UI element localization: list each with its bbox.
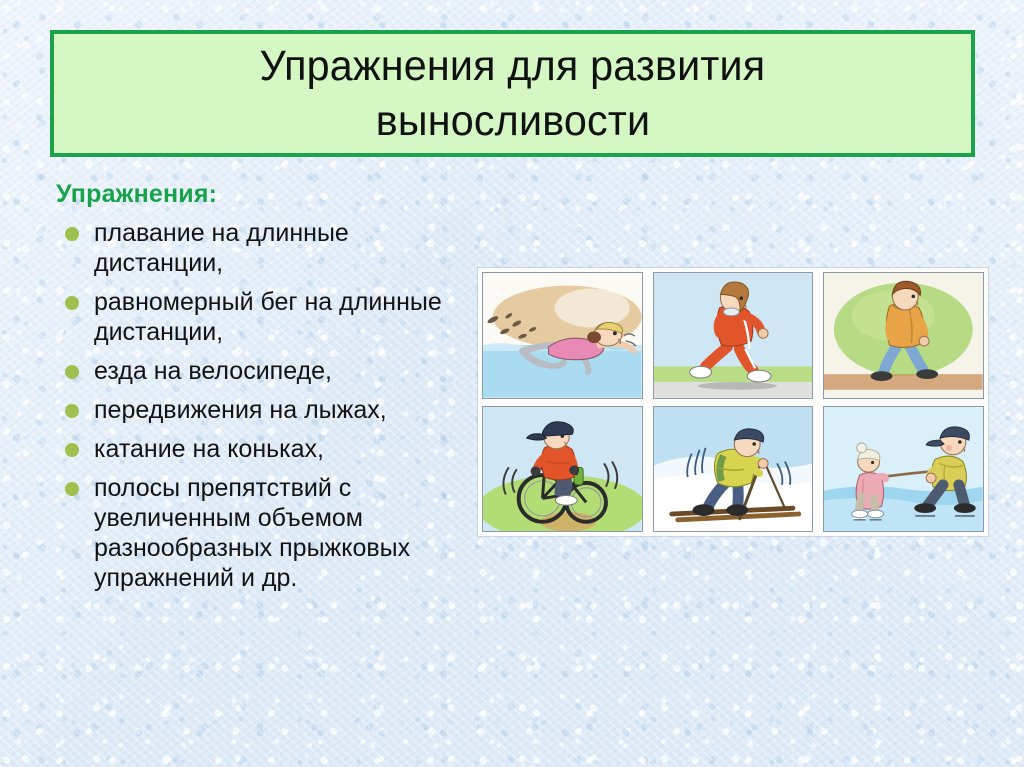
swimming-icon xyxy=(483,273,642,398)
list-item: полосы препятствий с увеличенным объемом… xyxy=(56,473,476,593)
bullet-dot-icon xyxy=(65,227,79,241)
walking-icon xyxy=(824,273,983,398)
slide-title-box: Упражнения для развития выносливости xyxy=(50,30,975,157)
bullet-dot-icon xyxy=(65,365,79,379)
list-item: езда на велосипеде, xyxy=(56,356,476,386)
illustration-running xyxy=(653,272,814,399)
illustration-skating xyxy=(823,406,984,533)
bullet-dot-icon xyxy=(65,482,79,496)
content-heading: Упражнения: xyxy=(56,180,217,209)
skiing-icon xyxy=(654,407,813,532)
cycling-icon xyxy=(483,407,642,532)
list-item: передвижения на лыжах, xyxy=(56,395,476,425)
illustration-cycling xyxy=(482,406,643,533)
list-item-label: равномерный бег на длинные дистанции, xyxy=(94,288,442,346)
bullet-dot-icon xyxy=(65,296,79,310)
skating-icon xyxy=(824,407,983,532)
list-item: плавание на длинные дистанции, xyxy=(56,218,476,278)
slide-canvas: Упражнения для развития выносливости Упр… xyxy=(0,0,1024,767)
illustration-swimming xyxy=(482,272,643,399)
list-item: равномерный бег на длинные дистанции, xyxy=(56,287,476,347)
list-item-label: катание на коньках, xyxy=(94,435,324,463)
slide-title-line-2: выносливости xyxy=(375,94,649,149)
list-item-label: плавание на длинные дистанции, xyxy=(94,219,349,277)
bullet-dot-icon xyxy=(65,443,79,457)
list-item: катание на коньках, xyxy=(56,434,476,464)
bullet-dot-icon xyxy=(65,404,79,418)
illustration-walking xyxy=(823,272,984,399)
exercise-bullet-list: плавание на длинные дистанции, равномерн… xyxy=(56,218,476,602)
list-item-label: передвижения на лыжах, xyxy=(94,396,387,424)
list-item-label: езда на велосипеде, xyxy=(94,357,332,385)
list-item-label: полосы препятствий с увеличенным объемом… xyxy=(94,474,410,592)
illustration-grid xyxy=(478,268,988,536)
illustration-skiing xyxy=(653,406,814,533)
running-icon xyxy=(654,273,813,398)
slide-title-line-1: Упражнения для развития xyxy=(260,39,766,94)
